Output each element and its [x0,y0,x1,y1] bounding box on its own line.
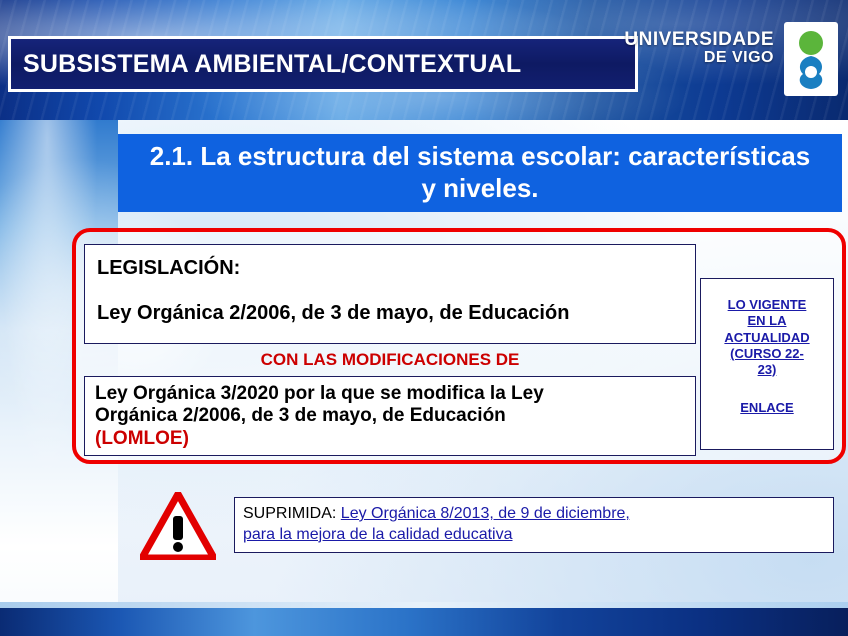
slide: SUBSISTEMA AMBIENTAL/CONTEXTUAL UNIVERSI… [0,0,848,636]
current-status-line-2: EN LA [724,313,809,329]
header-title: SUBSISTEMA AMBIENTAL/CONTEXTUAL [11,50,521,79]
current-status-text: LO VIGENTE EN LA ACTUALIDAD (CURSO 22- 2… [724,297,809,378]
suppressed-law-box: SUPRIMIDA: Ley Orgánica 8/2013, de 9 de … [234,497,834,553]
university-emblem-icon [784,22,838,96]
lomloe-box: Ley Orgánica 3/2020 por la que se modifi… [84,376,696,456]
header-banner: SUBSISTEMA AMBIENTAL/CONTEXTUAL [8,36,638,92]
suppressed-link-line-1[interactable]: Ley Orgánica 8/2013, de 9 de diciembre, [341,505,630,522]
slide-title-box: 2.1. La estructura del sistema escolar: … [118,134,842,212]
lomloe-line-1: Ley Orgánica 3/2020 por la que se modifi… [95,383,685,405]
lomloe-tag: (LOMLOE) [95,428,685,450]
suppressed-label: SUPRIMIDA: [243,505,336,522]
suppressed-link-line-2[interactable]: para la mejora de la calidad educativa [243,526,513,543]
current-status-line-1: LO VIGENTE [724,297,809,313]
lomloe-line-2: Orgánica 2/2006, de 3 de mayo, de Educac… [95,405,685,427]
legislation-law: Ley Orgánica 2/2006, de 3 de mayo, de Ed… [97,302,685,325]
university-logo: UNIVERSIDADE DE VIGO [634,8,842,108]
enlace-link[interactable]: ENLACE [740,400,793,415]
legislation-heading: LEGISLACIÓN: [97,257,685,280]
current-status-box: LO VIGENTE EN LA ACTUALIDAD (CURSO 22- 2… [700,278,834,450]
modifications-label: CON LAS MODIFICACIONES DE [84,346,696,374]
page-title: 2.1. La estructura del sistema escolar: … [118,141,842,204]
current-status-line-3: ACTUALIDAD [724,330,809,346]
current-status-line-4: (CURSO 22- [724,346,809,362]
university-logo-text: UNIVERSIDADE DE VIGO [624,30,774,67]
suppressed-line-2: para la mejora de la calidad educativa [243,525,825,546]
suppressed-line-1: SUPRIMIDA: Ley Orgánica 8/2013, de 9 de … [243,504,825,525]
current-status-line-5: 23) [724,362,809,378]
university-logo-line1: UNIVERSIDADE [624,30,774,50]
background-bottom-band [0,608,848,636]
university-logo-line2: DE VIGO [624,50,774,67]
legislation-box: LEGISLACIÓN: Ley Orgánica 2/2006, de 3 d… [84,244,696,344]
warning-triangle-icon [140,492,216,560]
